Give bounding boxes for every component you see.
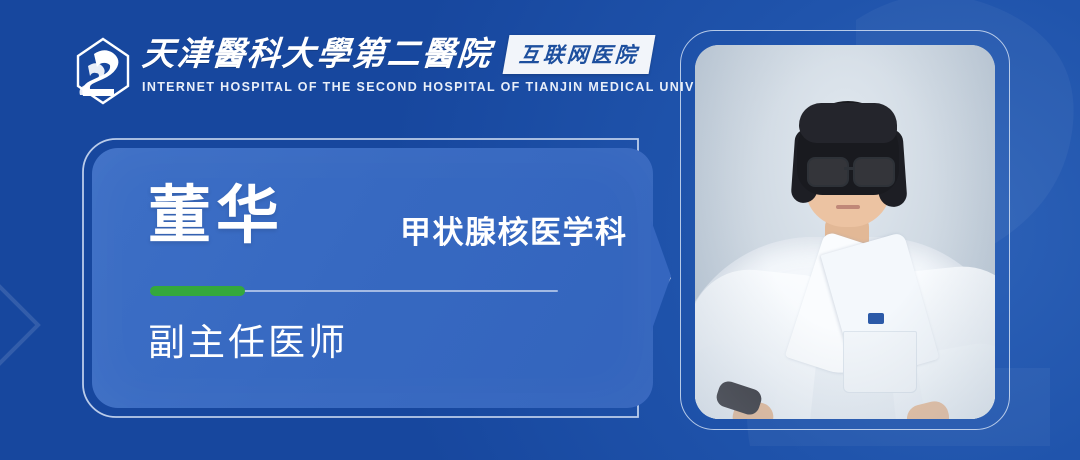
photo-vignette xyxy=(695,45,995,419)
doctor-name: 董华 xyxy=(148,180,284,252)
internet-hospital-badge: 互联网医院 xyxy=(503,35,656,74)
hospital-name-cn: 天津醫科大學第二醫院 xyxy=(141,34,494,74)
doctor-info-card: 董华 甲状腺核医学科 副主任医师 xyxy=(82,138,672,418)
doctor-title: 副主任医师 xyxy=(148,320,348,366)
doctor-department: 甲状腺核医学科 xyxy=(400,214,628,252)
background-accent-chevron-icon xyxy=(0,255,68,395)
progress-divider xyxy=(150,286,558,296)
hospital-name-block: 天津醫科大學第二醫院 互联网医院 INTERNET HOSPITAL OF TH… xyxy=(142,34,748,94)
doctor-photo-card xyxy=(680,30,1010,430)
doctor-profile-banner: 天津醫科大學第二醫院 互联网医院 INTERNET HOSPITAL OF TH… xyxy=(0,0,1080,460)
hospital-name-row: 天津醫科大學第二醫院 互联网医院 xyxy=(142,34,748,74)
internet-hospital-badge-label: 互联网医院 xyxy=(518,39,640,69)
divider-progress-accent xyxy=(150,286,245,296)
hospital-emblem-icon xyxy=(74,36,132,106)
doctor-photo xyxy=(695,45,995,419)
hospital-name-en: INTERNET HOSPITAL OF THE SECOND HOSPITAL… xyxy=(142,80,748,94)
hospital-logo-block: 天津醫科大學第二醫院 互联网医院 INTERNET HOSPITAL OF TH… xyxy=(74,34,748,106)
